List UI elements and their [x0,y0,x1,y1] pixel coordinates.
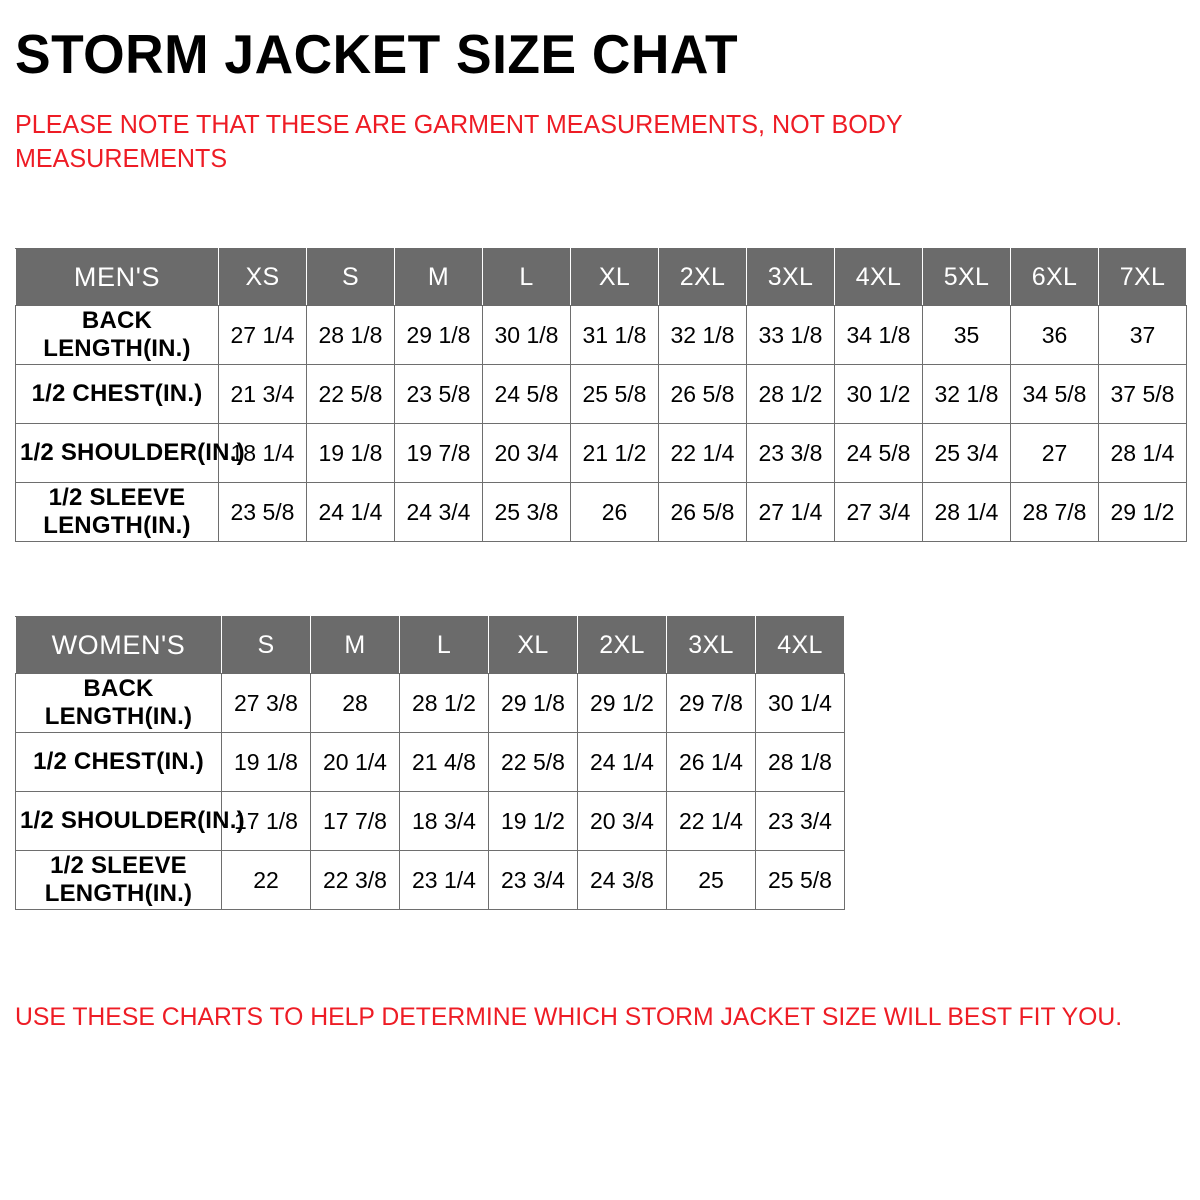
measurement-label: 1/2 SHOULDER(IN.) [16,424,219,483]
table-header-row: WOMEN'SSMLXL2XL3XL4XL [16,617,845,674]
measurement-label-line1: 1/2 CHEST(IN.) [33,748,204,775]
measurement-label-line1: BACK [82,307,152,334]
measurement-label: BACKLENGTH(IN.) [16,306,219,365]
size-header-xl: XL [571,249,659,306]
measurement-label-line1: 1/2 SLEEVE [50,852,187,879]
womens-table-header: WOMEN'SSMLXL2XL3XL4XL [16,617,845,674]
measurement-label-line1: 1/2 SHOULDER(IN.) [20,439,245,466]
measurement-value: 37 [1099,306,1187,365]
size-header-4xl: 4XL [835,249,923,306]
size-header-m: M [395,249,483,306]
measurement-value: 25 3/4 [923,424,1011,483]
measurement-value: 22 [222,851,311,910]
measurement-value: 27 3/8 [222,674,311,733]
garment-measurement-note: PLEASE NOTE THAT THESE ARE GARMENT MEASU… [15,82,961,176]
measurement-value: 24 1/4 [578,733,667,792]
measurement-value: 24 3/4 [395,483,483,542]
measurement-value: 32 1/8 [659,306,747,365]
measurement-label-line1: 1/2 SHOULDER(IN.) [20,807,245,834]
measurement-label: 1/2 CHEST(IN.) [16,365,219,424]
measurement-label: BACKLENGTH(IN.) [16,674,222,733]
table-header-row: MEN'SXSSMLXL2XL3XL4XL5XL6XL7XL [16,249,1187,306]
measurement-label-line2: LENGTH(IN.) [20,880,217,908]
size-header-2xl: 2XL [578,617,667,674]
measurement-value: 26 [571,483,659,542]
mens-table-header: MEN'SXSSMLXL2XL3XL4XL5XL6XL7XL [16,249,1187,306]
mens-corner-header: MEN'S [16,249,219,306]
measurement-value: 26 1/4 [667,733,756,792]
size-chart-page: STORM JACKET SIZE CHAT PLEASE NOTE THAT … [0,0,1200,1200]
footer-help-note: USE THESE CHARTS TO HELP DETERMINE WHICH… [15,910,1173,1032]
measurement-label-line1: 1/2 SLEEVE [49,484,186,511]
measurement-value: 25 3/8 [483,483,571,542]
table-row: BACKLENGTH(IN.)27 1/428 1/829 1/830 1/83… [16,306,1187,365]
measurement-value: 19 7/8 [395,424,483,483]
measurement-label: 1/2 SLEEVELENGTH(IN.) [16,851,222,910]
womens-corner-header: WOMEN'S [16,617,222,674]
measurement-value: 29 1/8 [489,674,578,733]
measurement-value: 28 [311,674,400,733]
size-header-s: S [307,249,395,306]
measurement-value: 24 3/8 [578,851,667,910]
measurement-value: 26 5/8 [659,483,747,542]
measurement-value: 21 1/2 [571,424,659,483]
measurement-value: 27 [1011,424,1099,483]
measurement-value: 23 1/4 [400,851,489,910]
womens-table-body: BACKLENGTH(IN.)27 3/82828 1/229 1/829 1/… [16,674,845,910]
measurement-value: 28 7/8 [1011,483,1099,542]
measurement-value: 27 1/4 [747,483,835,542]
table-row: 1/2 CHEST(IN.)19 1/820 1/421 4/822 5/824… [16,733,845,792]
size-header-xl: XL [489,617,578,674]
measurement-value: 23 3/4 [756,792,845,851]
measurement-value: 29 1/2 [1099,483,1187,542]
measurement-value: 32 1/8 [923,365,1011,424]
measurement-value: 28 1/2 [400,674,489,733]
measurement-value: 24 1/4 [307,483,395,542]
size-header-3xl: 3XL [747,249,835,306]
measurement-value: 24 5/8 [483,365,571,424]
measurement-value: 22 1/4 [659,424,747,483]
measurement-value: 22 3/8 [311,851,400,910]
measurement-value: 28 1/4 [1099,424,1187,483]
size-header-6xl: 6XL [1011,249,1099,306]
measurement-label-line2: LENGTH(IN.) [20,512,214,540]
womens-size-table: WOMEN'SSMLXL2XL3XL4XL BACKLENGTH(IN.)27 … [15,616,845,910]
measurement-label-line2: LENGTH(IN.) [20,335,214,363]
measurement-value: 30 1/8 [483,306,571,365]
measurement-value: 19 1/8 [307,424,395,483]
measurement-value: 28 1/2 [747,365,835,424]
measurement-label-line2: LENGTH(IN.) [20,703,217,731]
table-row: BACKLENGTH(IN.)27 3/82828 1/229 1/829 1/… [16,674,845,733]
measurement-value: 18 1/4 [219,424,307,483]
mens-table-body: BACKLENGTH(IN.)27 1/428 1/829 1/830 1/83… [16,306,1187,542]
measurement-value: 37 5/8 [1099,365,1187,424]
measurement-value: 35 [923,306,1011,365]
measurement-value: 25 5/8 [756,851,845,910]
measurement-value: 30 1/4 [756,674,845,733]
size-header-m: M [311,617,400,674]
measurement-value: 20 1/4 [311,733,400,792]
measurement-value: 21 4/8 [400,733,489,792]
table-row: 1/2 SHOULDER(IN.)17 1/817 7/818 3/419 1/… [16,792,845,851]
measurement-value: 31 1/8 [571,306,659,365]
measurement-value: 22 5/8 [489,733,578,792]
table-row: 1/2 CHEST(IN.)21 3/422 5/823 5/824 5/825… [16,365,1187,424]
measurement-value: 23 5/8 [395,365,483,424]
size-header-s: S [222,617,311,674]
measurement-value: 23 5/8 [219,483,307,542]
measurement-value: 22 1/4 [667,792,756,851]
measurement-value: 23 3/8 [747,424,835,483]
measurement-value: 19 1/8 [222,733,311,792]
measurement-value: 21 3/4 [219,365,307,424]
measurement-value: 27 1/4 [219,306,307,365]
measurement-value: 25 5/8 [571,365,659,424]
size-header-3xl: 3XL [667,617,756,674]
size-header-l: L [400,617,489,674]
measurement-value: 36 [1011,306,1099,365]
measurement-value: 19 1/2 [489,792,578,851]
measurement-value: 20 3/4 [483,424,571,483]
size-header-2xl: 2XL [659,249,747,306]
measurement-value: 26 5/8 [659,365,747,424]
size-header-4xl: 4XL [756,617,845,674]
size-header-5xl: 5XL [923,249,1011,306]
measurement-value: 17 1/8 [222,792,311,851]
table-row: 1/2 SHOULDER(IN.)18 1/419 1/819 7/820 3/… [16,424,1187,483]
measurement-label-line1: 1/2 CHEST(IN.) [32,380,203,407]
measurement-value: 34 5/8 [1011,365,1099,424]
measurement-value: 22 5/8 [307,365,395,424]
measurement-value: 28 1/4 [923,483,1011,542]
measurement-value: 29 1/8 [395,306,483,365]
mens-size-table: MEN'SXSSMLXL2XL3XL4XL5XL6XL7XL BACKLENGT… [15,248,1187,542]
measurement-value: 23 3/4 [489,851,578,910]
measurement-value: 34 1/8 [835,306,923,365]
measurement-value: 29 7/8 [667,674,756,733]
measurement-label: 1/2 SLEEVELENGTH(IN.) [16,483,219,542]
measurement-value: 28 1/8 [756,733,845,792]
measurement-label: 1/2 CHEST(IN.) [16,733,222,792]
size-header-xs: XS [219,249,307,306]
measurement-value: 27 3/4 [835,483,923,542]
size-header-l: L [483,249,571,306]
measurement-value: 17 7/8 [311,792,400,851]
measurement-value: 33 1/8 [747,306,835,365]
measurement-label-line1: BACK [83,675,153,702]
size-header-7xl: 7XL [1099,249,1187,306]
measurement-value: 18 3/4 [400,792,489,851]
measurement-value: 25 [667,851,756,910]
measurement-value: 24 5/8 [835,424,923,483]
measurement-value: 28 1/8 [307,306,395,365]
measurement-label: 1/2 SHOULDER(IN.) [16,792,222,851]
table-row: 1/2 SLEEVELENGTH(IN.)23 5/824 1/424 3/42… [16,483,1187,542]
measurement-value: 29 1/2 [578,674,667,733]
measurement-value: 20 3/4 [578,792,667,851]
page-title: STORM JACKET SIZE CHAT [15,0,1150,82]
measurement-value: 30 1/2 [835,365,923,424]
table-row: 1/2 SLEEVELENGTH(IN.)2222 3/823 1/423 3/… [16,851,845,910]
